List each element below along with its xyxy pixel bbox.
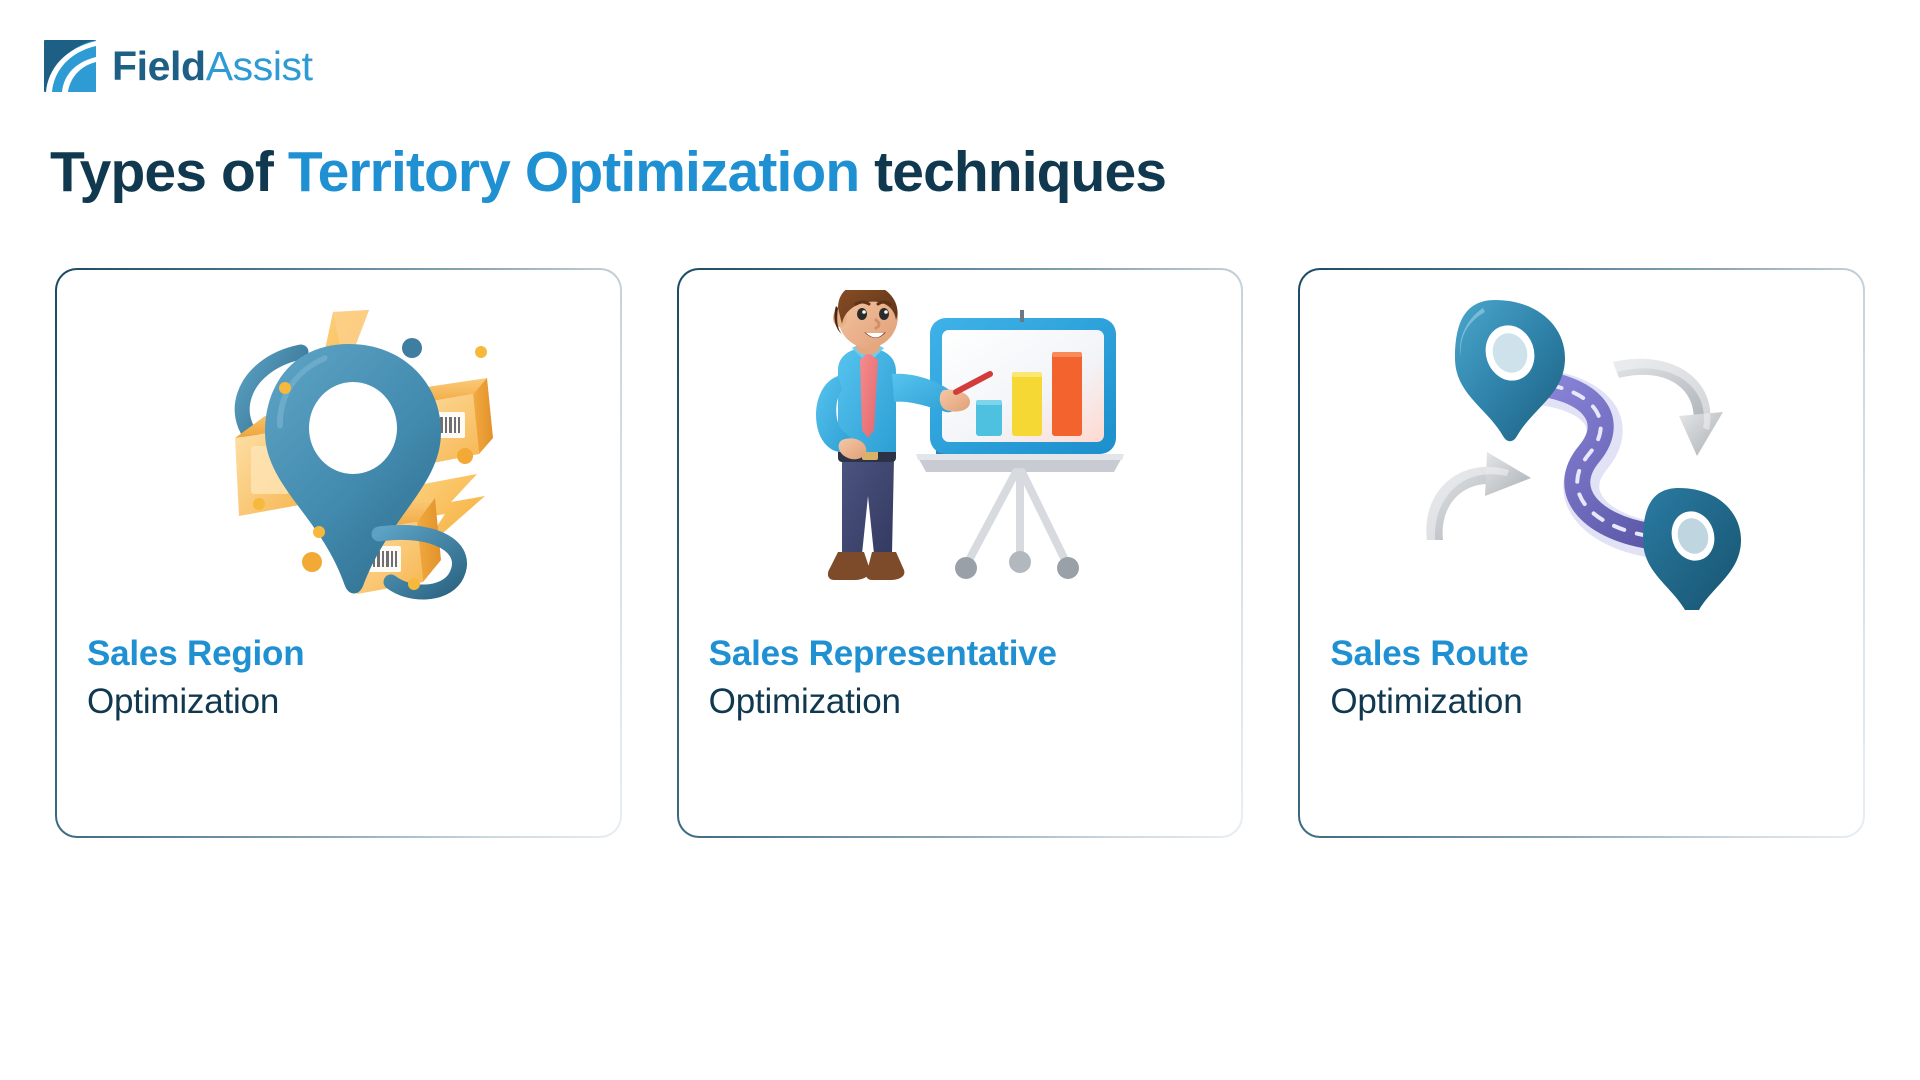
- brand-name-field: Field: [112, 46, 206, 87]
- card-label: Sales Representative Optimization: [679, 630, 1242, 727]
- card-label: Sales Region Optimization: [57, 630, 620, 727]
- brand-wordmark: FieldAssist: [112, 46, 313, 87]
- accent-dot: [408, 578, 420, 590]
- card-title-accent: Sales Region: [87, 634, 304, 673]
- chart-bar-3: [1052, 352, 1082, 436]
- card-sales-route-optimization[interactable]: Sales Route Optimization: [1298, 268, 1865, 838]
- illustration-winding-route-between-map-pins: [1300, 270, 1863, 630]
- page-title-highlight: Territory Optimization: [288, 140, 859, 204]
- accent-dot: [313, 526, 325, 538]
- card-sales-region-optimization[interactable]: Sales Region Optimization: [55, 268, 622, 838]
- accent-dot: [402, 338, 422, 358]
- accent-dot: [253, 498, 265, 510]
- chart-bar-2: [1012, 372, 1042, 436]
- caster-wheel: [955, 557, 977, 579]
- caster-wheel: [1009, 551, 1031, 573]
- card-title-base: Optimization: [1330, 682, 1522, 721]
- accent-dot: [279, 382, 291, 394]
- curved-arrow-left: [1426, 452, 1531, 540]
- chart-bar-1: [976, 400, 1002, 436]
- card-title-accent: Sales Route: [1330, 634, 1528, 673]
- shoe-right: [866, 552, 904, 580]
- page-title-part1: Types of: [50, 140, 288, 204]
- accent-dot: [457, 448, 473, 464]
- infographic-page: FieldAssist Types of Territory Optimizat…: [0, 0, 1920, 1080]
- illustration-salesman-with-bar-chart-board: [679, 270, 1242, 630]
- brand-logo: FieldAssist: [44, 40, 313, 92]
- curved-arrow-right: [1613, 359, 1723, 456]
- page-title-part2: techniques: [859, 140, 1166, 204]
- caster-wheel: [1057, 557, 1079, 579]
- card-title-base: Optimization: [87, 682, 279, 721]
- card-title-accent: Sales Representative: [709, 634, 1057, 673]
- card-sales-representative-optimization[interactable]: Sales Representative Optimization: [677, 268, 1244, 838]
- illustration-map-pin-with-parcel-boxes: [57, 270, 620, 630]
- map-pin-start: [1455, 300, 1565, 441]
- easel-tripod: [968, 472, 1066, 562]
- brand-name-assist: Assist: [206, 46, 313, 87]
- card-title-base: Optimization: [709, 682, 901, 721]
- map-pin-end: [1643, 488, 1741, 610]
- technique-card-list: Sales Region Optimization: [55, 268, 1865, 838]
- accent-dot: [475, 346, 487, 358]
- accent-dot: [302, 552, 322, 572]
- fieldassist-swoosh-logo-mark: [44, 40, 96, 92]
- shoe-left: [828, 552, 870, 580]
- card-label: Sales Route Optimization: [1300, 630, 1863, 727]
- page-title: Types of Territory Optimization techniqu…: [50, 140, 1166, 206]
